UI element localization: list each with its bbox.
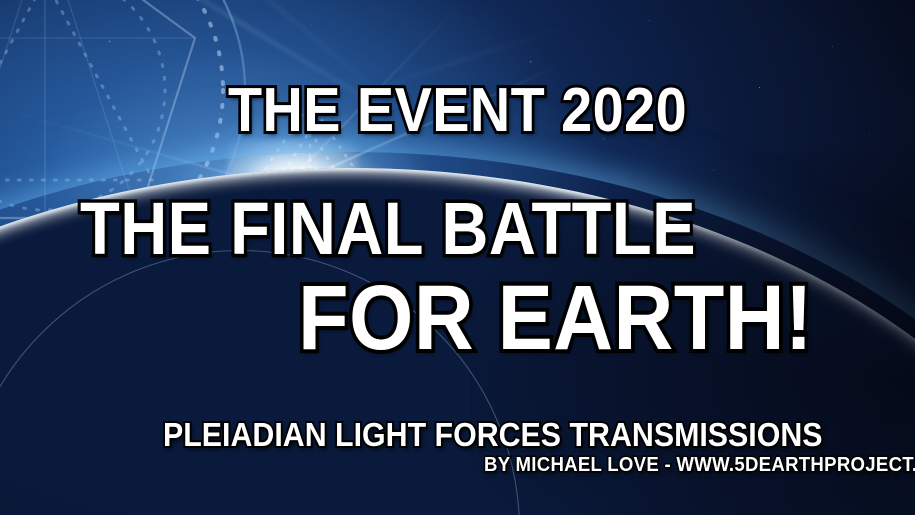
headline-line-1: THE EVENT 2020 xyxy=(228,80,687,142)
headline-line-3: FOR EARTH! xyxy=(298,272,813,364)
subtitle: PLEIADIAN LIGHT FORCES TRANSMISSIONS xyxy=(163,418,823,451)
event-banner: THE EVENT 2020 THE FINAL BATTLE FOR EART… xyxy=(0,0,915,515)
headline-line-2: THE FINAL BATTLE xyxy=(80,192,696,266)
credit-line: BY MICHAEL LOVE - WWW.5DEARTHPROJECT.COM xyxy=(484,455,915,475)
